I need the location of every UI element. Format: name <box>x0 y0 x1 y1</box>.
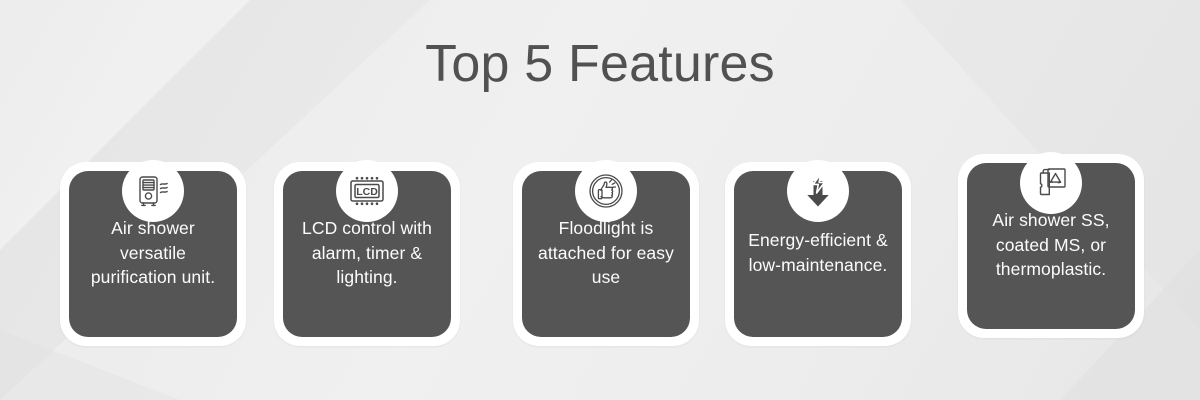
air-purifier-icon <box>122 160 184 222</box>
energy-arrow-icon <box>787 160 849 222</box>
recycled-material-icon <box>1020 152 1082 214</box>
feature-cards-row: Air shower versatile purification unit. <box>52 122 1152 352</box>
feature-card-text: Air shower SS, coated MS, or thermoplast… <box>977 208 1125 283</box>
lcd-chip-icon: LCD <box>336 160 398 222</box>
feature-card-text: Energy-efficient & low-maintenance. <box>744 228 892 278</box>
feature-card-text: Floodlight is attached for easy use <box>532 216 680 291</box>
infographic-page: Top 5 Features <box>0 0 1200 400</box>
svg-text:LCD: LCD <box>356 186 378 198</box>
thumbs-up-icon <box>575 160 637 222</box>
feature-card-text: Air shower versatile purification unit. <box>79 216 227 291</box>
feature-card-air-shower-unit[interactable]: Air shower versatile purification unit. <box>60 162 246 346</box>
feature-card-materials[interactable]: Air shower SS, coated MS, or thermoplast… <box>958 154 1144 338</box>
feature-card-text: LCD control with alarm, timer & lighting… <box>293 216 441 291</box>
page-title: Top 5 Features <box>0 34 1200 94</box>
feature-card-lcd-control[interactable]: LCD LCD control with alarm, timer & ligh… <box>274 162 460 346</box>
feature-card-energy-efficient[interactable]: Energy-efficient & low-maintenance. <box>725 162 911 346</box>
feature-card-floodlight[interactable]: Floodlight is attached for easy use <box>513 162 699 346</box>
